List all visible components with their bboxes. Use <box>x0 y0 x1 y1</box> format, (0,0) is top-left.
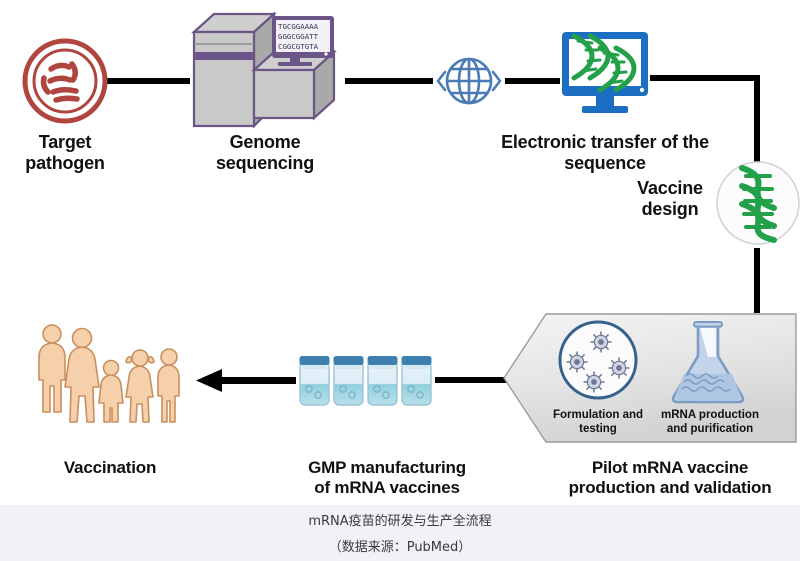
connector-pathogen-to-sequencing <box>105 78 190 84</box>
label-mrna-production-l2: and purification <box>667 423 753 435</box>
label-pilot-production: Pilot mRNA vaccine production and valida… <box>540 458 800 498</box>
caption-band: mRNA疫苗的研发与生产全流程 （数据来源：PubMed） <box>0 505 800 561</box>
chevron-banner: Formulation and testing mRNA production … <box>502 312 798 444</box>
connector-gmp-to-vaccination <box>196 368 296 394</box>
pathogen-bacteria-icon <box>20 36 110 126</box>
label-mrna-production-l1: mRNA production <box>661 409 759 421</box>
person-child-small <box>99 361 123 423</box>
vaccine-vials-icon <box>298 352 434 410</box>
label-formulation-testing-l1: Formulation and <box>553 409 643 421</box>
label-target-pathogen: Target pathogen <box>5 132 125 174</box>
step-vaccine-design[interactable] <box>716 156 800 250</box>
sequence-line-2: GGGCGGATT <box>278 32 319 41</box>
label-genome-sequencing: Genome sequencing <box>190 132 340 174</box>
connector-sequencing-to-globe <box>345 78 433 84</box>
petri-dish-virus-icon <box>560 322 636 398</box>
monitor-dna-icon <box>556 28 654 120</box>
step-vaccination[interactable] <box>30 320 190 430</box>
label-vaccine-design: Vaccine design <box>622 178 718 220</box>
arrow-left-icon <box>196 368 296 394</box>
connector-monitor-to-design-horizontal <box>650 75 760 81</box>
dna-helix-icon <box>716 156 800 250</box>
step-gmp-manufacturing[interactable] <box>298 352 434 410</box>
label-gmp-manufacturing: GMP manufacturing of mRNA vaccines <box>272 458 502 498</box>
globe-transfer-icon <box>432 50 506 112</box>
person-adult-female <box>65 329 99 423</box>
step-target-pathogen[interactable] <box>20 36 110 126</box>
step-electronic-transfer-monitor[interactable] <box>556 28 654 120</box>
step-pilot-production[interactable]: Formulation and testing mRNA production … <box>502 312 798 444</box>
step-genome-sequencing[interactable]: TGCGGAAAA GGGCGGATT CGGCGTGTA <box>186 8 338 128</box>
person-child-girl <box>126 350 154 422</box>
caption-line-1: mRNA疫苗的研发与生产全流程 <box>0 505 800 535</box>
diagram-canvas: Target pathogen TGCGGAAAA GGGCGGATT CG <box>0 0 800 561</box>
step-electronic-transfer-globe[interactable] <box>432 50 506 112</box>
caption-line-2: （数据来源：PubMed） <box>0 535 800 561</box>
label-formulation-testing-l2: testing <box>579 423 617 435</box>
connector-pilot-to-gmp <box>435 377 510 383</box>
sequence-line-3: CGGCGTGTA <box>278 42 319 51</box>
sequencer-machine-icon: TGCGGAAAA GGGCGGATT CGGCGTGTA <box>186 8 338 128</box>
connector-design-to-pilot <box>754 248 760 313</box>
label-vaccination: Vaccination <box>35 458 185 478</box>
connector-globe-to-monitor <box>505 78 560 84</box>
sequence-line-1: TGCGGAAAA <box>278 22 319 31</box>
person-teen <box>158 349 179 422</box>
person-adult-male <box>39 325 65 412</box>
people-group-icon <box>30 320 190 430</box>
